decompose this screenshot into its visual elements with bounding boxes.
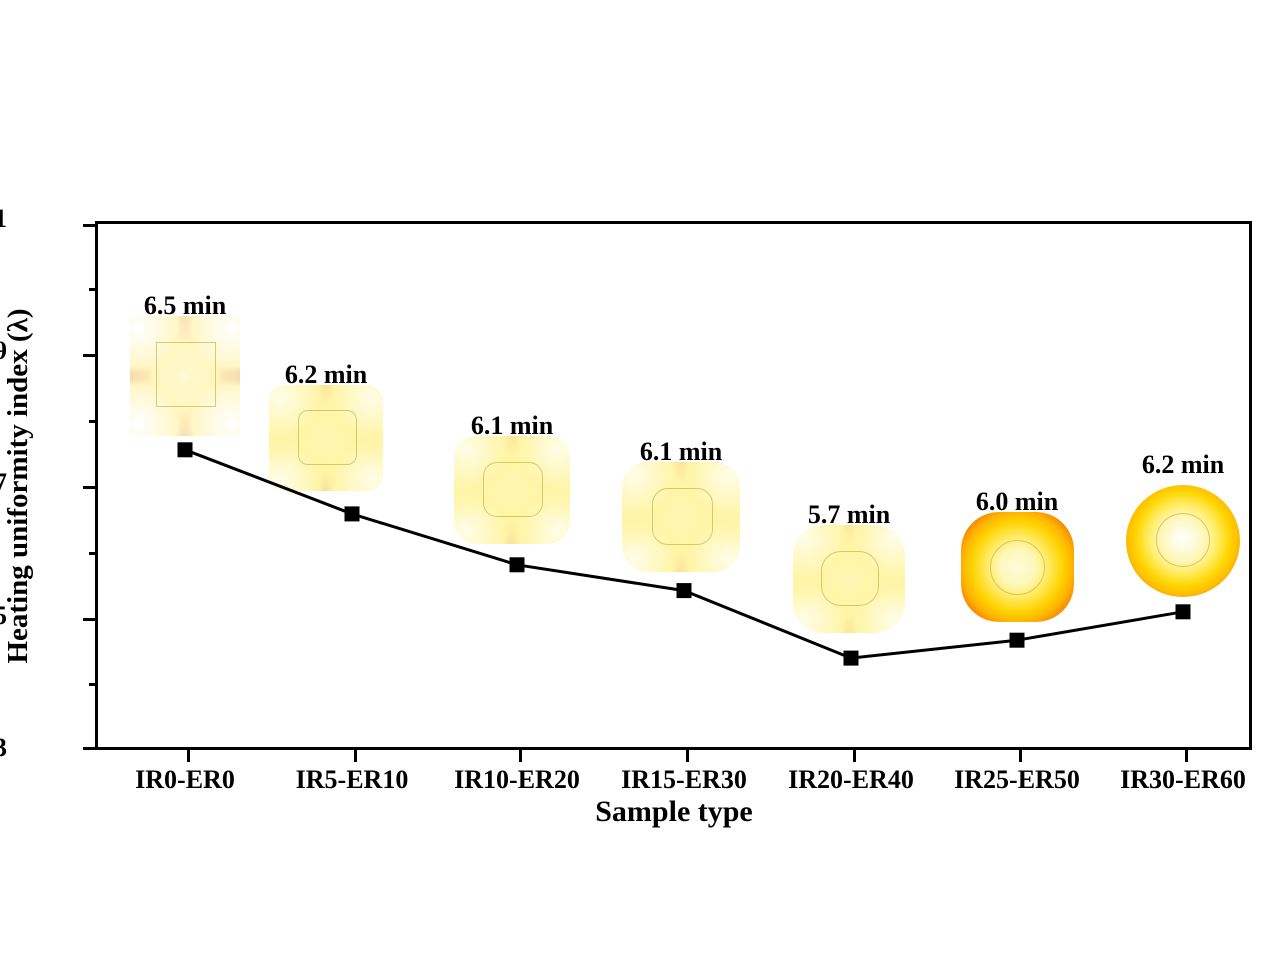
y-tick-major-0.07 bbox=[83, 486, 98, 489]
thermal-inner-outline bbox=[156, 342, 215, 407]
thermal-map-ir15-er30 bbox=[622, 462, 740, 572]
y-tick-label-0.11: 0.11 bbox=[0, 206, 7, 232]
y-tick-major-0.03 bbox=[83, 747, 98, 750]
y-tick-label-0.07: 0.07 bbox=[0, 470, 7, 496]
y-tick-label-0.09: 0.09 bbox=[0, 338, 7, 364]
thermal-inner-outline bbox=[652, 488, 713, 544]
y-tick-minor-0.04 bbox=[89, 683, 98, 686]
annotation-time-ir15-er30: 6.1 min bbox=[571, 437, 791, 467]
thermal-map-ir30-er60 bbox=[1126, 485, 1240, 597]
annotation-time-ir30-er60: 6.2 min bbox=[1073, 450, 1279, 480]
thermal-map-ir5-er10 bbox=[269, 385, 383, 491]
thermal-inner-outline bbox=[821, 551, 879, 606]
x-tick-ir10-er20 bbox=[519, 747, 522, 762]
x-tick-ir20-er40 bbox=[853, 747, 856, 762]
thermal-map-ir20-er40 bbox=[793, 525, 905, 633]
thermal-inner-outline bbox=[483, 462, 543, 517]
x-axis-title: Sample type bbox=[95, 795, 1253, 829]
thermal-map-ir10-er20 bbox=[454, 436, 570, 544]
thermal-inner-outline bbox=[298, 410, 357, 464]
x-tick-label-ir30-er60: IR30-ER60 bbox=[1083, 765, 1279, 795]
thermal-inner-outline bbox=[1156, 513, 1211, 567]
y-tick-label-0.03: 0.03 bbox=[0, 735, 7, 761]
x-tick-ir5-er10 bbox=[354, 747, 357, 762]
annotation-time-ir5-er10: 6.2 min bbox=[216, 360, 436, 390]
thermal-map-ir25-er50 bbox=[961, 512, 1074, 622]
chart-figure: Heating uniformity index (λ) 0.11 0.09 0… bbox=[0, 0, 1279, 960]
y-tick-minor-0.08 bbox=[89, 420, 98, 423]
x-tick-ir30-er60 bbox=[1185, 747, 1188, 762]
annotation-time-ir25-er50: 6.0 min bbox=[907, 487, 1127, 517]
thermal-inner-outline bbox=[990, 540, 1044, 595]
y-tick-minor-0.06 bbox=[89, 552, 98, 555]
y-tick-major-0.05 bbox=[83, 618, 98, 621]
x-tick-ir25-er50 bbox=[1019, 747, 1022, 762]
annotation-time-ir0-er0: 6.5 min bbox=[75, 291, 295, 321]
x-tick-ir0-er0 bbox=[187, 747, 190, 762]
y-tick-label-0.05: 0.05 bbox=[0, 603, 7, 629]
y-tick-major-0.11 bbox=[83, 224, 98, 227]
x-tick-ir15-er30 bbox=[686, 747, 689, 762]
y-axis-title: Heating uniformity index (λ) bbox=[2, 206, 42, 766]
y-tick-major-0.09 bbox=[83, 354, 98, 357]
